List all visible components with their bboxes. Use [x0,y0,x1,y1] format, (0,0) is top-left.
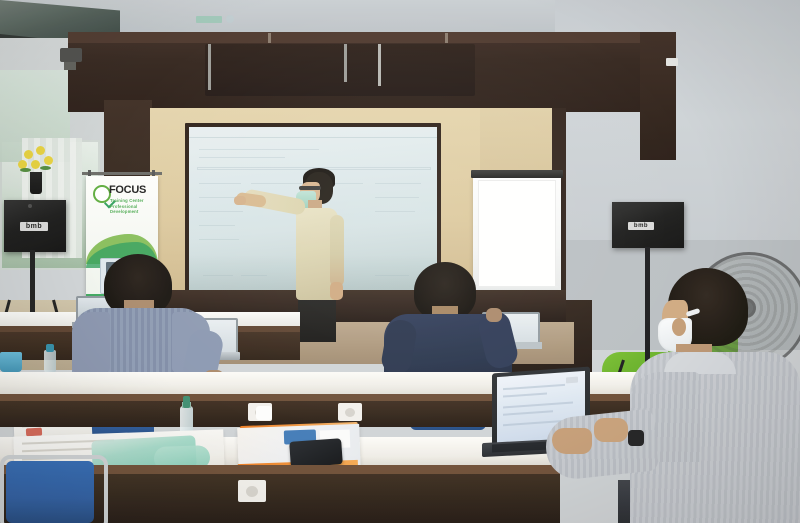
mobile-phone[interactable] [289,438,343,468]
roller-bracket [208,44,211,90]
banner-tagline: Training Center Professional Development [110,198,156,215]
projector-screen-roller [205,44,475,96]
sanitizer-pump-cap [183,396,190,408]
desk-row-2-top [0,372,700,394]
presenter-legs [298,296,336,342]
speaker-brand-label-right: bmb [628,222,654,230]
presenter-pointing-hand [234,196,246,205]
flipchart-top-sheet [478,180,556,288]
desk-row-2-edge [0,394,700,401]
meeting-room-photo: FOCUS Training Center Professional Devel… [0,0,800,523]
wall-sensor-icon [666,58,678,66]
chair-frame [0,455,108,523]
valance-seam [268,33,271,43]
speaker-brand-label-left: bmb [20,222,48,231]
participant-foreground-ear [672,318,686,336]
roller-bracket [378,44,381,86]
bottle-cap [46,344,54,352]
projector-mount [60,48,82,62]
speaker-led-icon [28,204,32,208]
valance-top-trim [68,32,668,43]
screen-highlight-button [196,16,222,23]
laptop-brand-logo-icon [566,377,578,384]
presenter-right-hand [330,282,343,300]
wristwatch [628,430,644,446]
participant-left-shoulder [72,312,110,372]
screen-content-toolbar [189,137,437,138]
banner-brand-name: FOCUS [109,184,157,197]
glasses-icon [299,186,321,190]
valance-seam [445,33,448,43]
participant-middle-hand [486,308,502,322]
valance-right-return [640,32,676,160]
plugged-adapter [256,406,272,420]
power-outlet-socket-icon [246,486,258,497]
water-bottle [44,350,56,372]
participant-foreground-hand-left [552,428,592,454]
flower-vase [30,172,42,194]
screen-avatar-dot [226,15,234,23]
power-outlet-socket-icon [345,408,355,417]
banner-rod [82,172,162,175]
roller-bracket [344,44,347,82]
participant-foreground-hand-right [594,418,628,442]
blue-cup [0,352,22,372]
presenter-right-arm [330,215,344,287]
flipchart-clamp [471,170,563,178]
shirt-collar [664,352,736,374]
projector-mount-arm [64,62,76,70]
